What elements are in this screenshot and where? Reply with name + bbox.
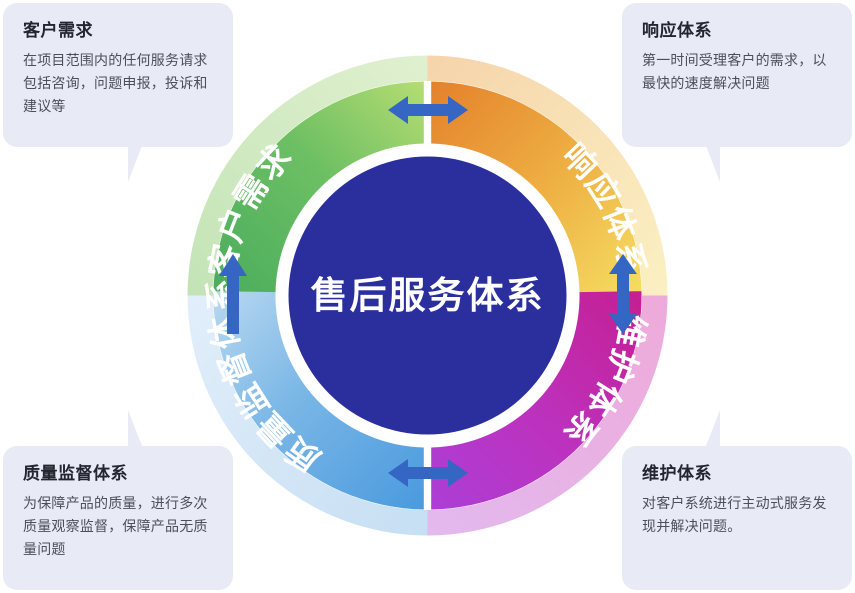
callout-title: 质量监督体系 <box>23 464 213 484</box>
callout-maintenance-system[interactable]: 维护体系 对客户系统进行主动式服务发现并解决问题。 <box>622 446 852 590</box>
callout-title: 维护体系 <box>642 464 832 484</box>
callout-body: 为保障产品的质量，进行多次质量观察监督，保障产品无质量问题 <box>23 492 213 560</box>
callout-title: 客户需求 <box>23 21 213 41</box>
arrow-bottom-double-icon <box>386 453 470 493</box>
diagram-canvas: 客户需求 响应体系 维护体系 质量监督体系 售后服务体系 客户需求 在项目范围 <box>0 0 855 593</box>
callout-tail-customer-demand <box>128 146 156 182</box>
callout-response-system[interactable]: 响应体系 第一时间受理客户的需求，以最快的速度解决问题 <box>622 3 852 147</box>
arrow-left-single-up-icon <box>213 252 253 336</box>
callout-customer-demand[interactable]: 客户需求 在项目范围内的任何服务请求包括咨询，问题申报，投诉和建议等 <box>3 3 233 147</box>
callout-body: 第一时间受理客户的需求，以最快的速度解决问题 <box>642 49 832 94</box>
center-title: 售后服务体系 <box>311 275 545 316</box>
arrow-right-double-icon <box>603 252 643 336</box>
callout-tail-response-system <box>692 146 720 182</box>
callout-title: 响应体系 <box>642 21 832 41</box>
callout-body: 在项目范围内的任何服务请求包括咨询，问题申报，投诉和建议等 <box>23 49 213 117</box>
callout-tail-maintenance-system <box>692 410 720 446</box>
callout-quality-supervision[interactable]: 质量监督体系 为保障产品的质量，进行多次质量观察监督，保障产品无质量问题 <box>3 446 233 590</box>
callout-tail-quality-supervision <box>128 410 156 446</box>
arrow-top-double-icon <box>386 90 470 130</box>
callout-body: 对客户系统进行主动式服务发现并解决问题。 <box>642 492 832 537</box>
